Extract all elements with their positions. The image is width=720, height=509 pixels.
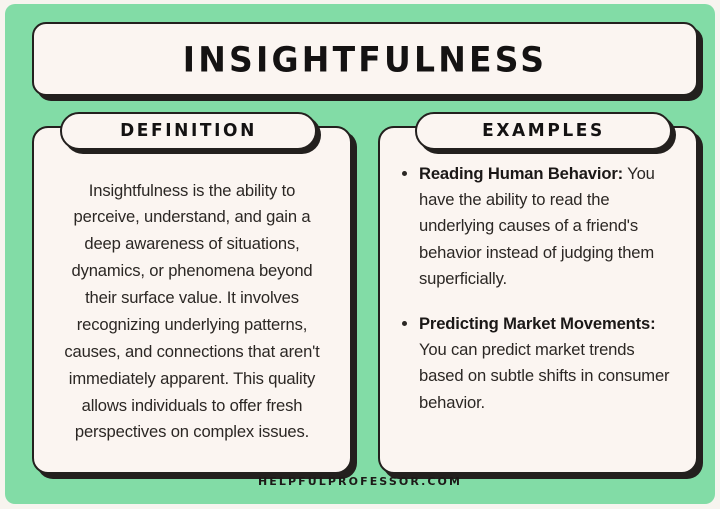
example-body-text: You can predict market trends based on s…	[419, 340, 669, 411]
examples-card-body: Reading Human Behavior: You have the abi…	[380, 128, 696, 472]
examples-card: EXAMPLES Reading Human Behavior: You hav…	[378, 126, 698, 474]
definition-text: Insightfulness is the ability to perceiv…	[48, 178, 336, 447]
definition-header-label: DEFINITION	[120, 122, 257, 140]
infographic-poster: INSIGHTFULNESS DEFINITION Insightfulness…	[0, 0, 720, 509]
footer-watermark: HELPFULPROFESSOR.COM	[258, 475, 462, 488]
definition-header-pill: DEFINITION	[60, 112, 317, 150]
green-background-panel: INSIGHTFULNESS DEFINITION Insightfulness…	[5, 4, 715, 504]
list-item: Reading Human Behavior: You have the abi…	[398, 161, 676, 292]
example-lead-label: Predicting Market Movements:	[419, 314, 655, 333]
examples-header-pill: EXAMPLES	[415, 112, 672, 150]
definition-card: DEFINITION Insightfulness is the ability…	[32, 126, 352, 474]
page-title: INSIGHTFULNESS	[183, 42, 548, 77]
list-item: Predicting Market Movements: You can pre…	[398, 311, 676, 416]
examples-list: Reading Human Behavior: You have the abi…	[394, 161, 682, 416]
title-card: INSIGHTFULNESS	[32, 22, 698, 96]
definition-card-body: Insightfulness is the ability to perceiv…	[34, 128, 350, 472]
examples-header-label: EXAMPLES	[482, 122, 605, 140]
cards-row: DEFINITION Insightfulness is the ability…	[32, 126, 698, 474]
footer: HELPFULPROFESSOR.COM	[5, 472, 715, 490]
example-lead-label: Reading Human Behavior:	[419, 164, 623, 183]
